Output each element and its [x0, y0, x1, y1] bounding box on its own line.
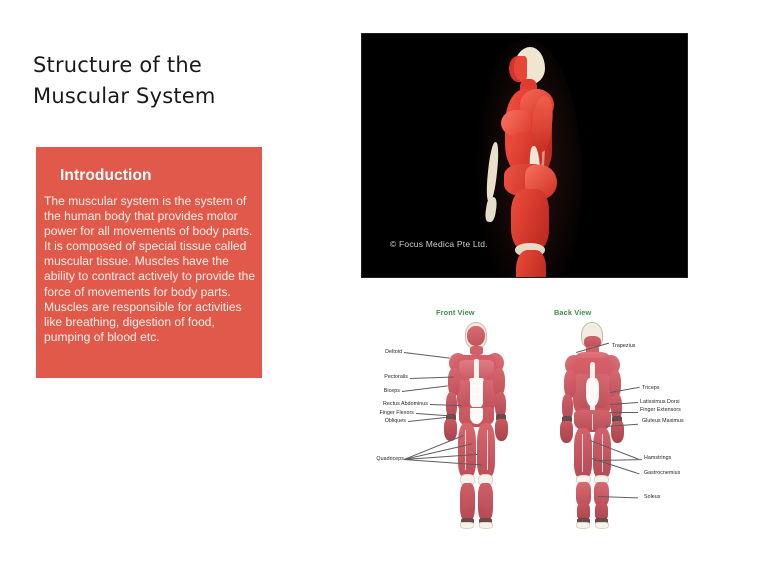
- figure-thigh: [511, 189, 549, 251]
- page-title: Structure of the Muscular System: [33, 50, 333, 112]
- figure-calf: [516, 250, 546, 277]
- label-obliques: Obliques: [362, 418, 406, 425]
- label-gastrocnemius: Gastrocnemius: [644, 470, 680, 477]
- label-finger-extensors: Finger Extensors: [640, 407, 681, 414]
- front-quadriceps-left: [458, 423, 476, 477]
- back-foot-right: [595, 522, 609, 529]
- back-hamstrings-left: [574, 428, 592, 478]
- back-thigh-line-left: [582, 434, 583, 472]
- front-face-muscles: [467, 326, 485, 346]
- front-thigh-line-right: [487, 430, 488, 470]
- introduction-body-text: The muscular system is the system of the…: [44, 194, 258, 345]
- label-gluteus-maximus: Gluteus Maximus: [642, 418, 684, 425]
- front-rectus-abdominus: [469, 378, 484, 408]
- front-foot-left: [460, 522, 474, 529]
- back-thoracolumbar-fascia: [586, 378, 599, 406]
- label-quadriceps: Quadriceps: [362, 456, 404, 463]
- front-view-figure: [432, 322, 520, 528]
- back-view-heading: Back View: [554, 308, 591, 317]
- label-deltoid: Deltoid: [362, 349, 402, 356]
- copyright-watermark: © Focus Medica Pte Ltd.: [390, 239, 488, 249]
- anatomy-diagram-panel: Front View Back View: [362, 300, 692, 540]
- front-quadriceps-right: [477, 423, 495, 477]
- front-calf-right: [478, 483, 493, 521]
- introduction-card: Introduction The muscular system is the …: [36, 147, 262, 378]
- back-foot-left: [576, 522, 590, 529]
- front-neck: [470, 346, 483, 355]
- label-rectus-abdominus: Rectus Abdominus: [362, 401, 428, 408]
- front-abdominal-line-2: [469, 394, 484, 395]
- label-biceps: Biceps: [362, 388, 400, 395]
- front-finger-flexors-right: [495, 419, 508, 441]
- label-finger-flexors: Finger Flexors: [362, 410, 414, 417]
- label-trapezius: Trapezius: [612, 343, 636, 350]
- introduction-heading: Introduction: [60, 167, 152, 185]
- label-pectoralis: Pectoralis: [362, 374, 408, 381]
- leader-finger-extensors: [610, 412, 638, 413]
- label-soleus: Soleus: [644, 494, 661, 501]
- figure-facial-muscles: [509, 56, 527, 82]
- back-thigh-line-right: [602, 434, 603, 472]
- front-calf-left: [460, 483, 475, 521]
- back-gluteal-cleft: [592, 414, 593, 430]
- label-latissimus-dorsi: Latissimus Dorsi: [640, 399, 680, 406]
- anatomy-3d-render-panel: © Focus Medica Pte Ltd.: [362, 34, 687, 277]
- label-hamstrings: Hamstrings: [644, 455, 671, 462]
- front-view-heading: Front View: [436, 308, 475, 317]
- front-foot-right: [479, 522, 493, 529]
- back-finger-extensors-left: [560, 421, 573, 443]
- front-pelvic-region: [470, 408, 483, 424]
- label-triceps: Triceps: [642, 385, 660, 392]
- front-abdominal-line-1: [469, 386, 484, 387]
